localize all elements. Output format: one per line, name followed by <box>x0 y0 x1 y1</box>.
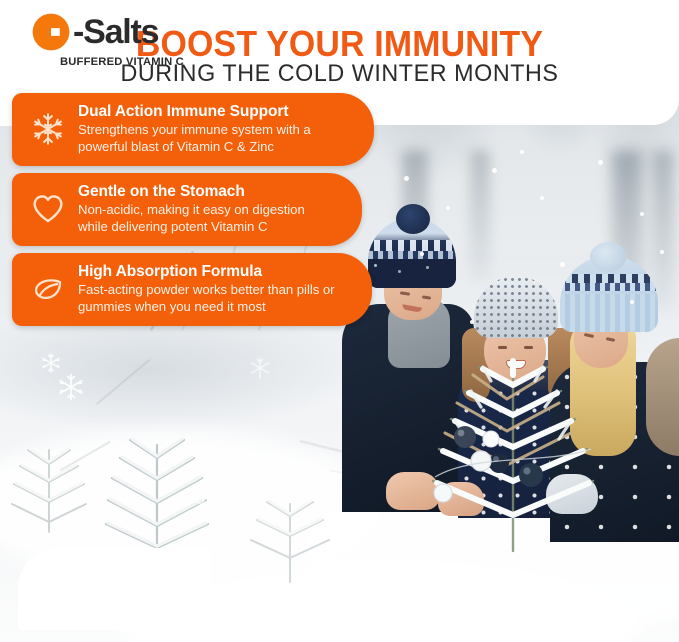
falling-snow <box>470 320 474 324</box>
falling-snow <box>640 212 644 216</box>
father-hat-pompom <box>396 204 430 234</box>
brand-wordmark: -Salts <box>73 15 158 49</box>
ornament-bauble <box>483 431 499 447</box>
leaf-icon <box>20 261 76 317</box>
decorative-snowflake-icon <box>56 372 86 402</box>
brand-logo-plate <box>18 548 211 630</box>
feature-text: Gentle on the Stomach Non-acidic, making… <box>76 183 338 236</box>
ornament-bauble <box>471 451 491 471</box>
feature-text: Dual Action Immune Support Strengthens y… <box>76 103 350 156</box>
ornament-bauble <box>489 453 509 473</box>
feature-description: Strengthens your immune system with a po… <box>78 122 350 155</box>
decorative-snowflake-icon <box>190 492 216 518</box>
falling-snow <box>660 250 664 254</box>
ornament-bauble <box>454 426 476 448</box>
falling-snow <box>630 300 634 304</box>
feature-title: Dual Action Immune Support <box>78 103 350 121</box>
falling-snow <box>520 150 524 154</box>
feature-description: Non-acidic, making it easy on digestion … <box>78 202 338 235</box>
feature-item-high-absorption[interactable]: High Absorption Formula Fast-acting powd… <box>12 253 372 326</box>
falling-snow <box>560 262 565 267</box>
mother-hat-pompom <box>590 242 626 272</box>
falling-snow <box>404 176 409 181</box>
letter-c-mark-icon <box>30 11 72 53</box>
feature-description: Fast-acting powder works better than pil… <box>78 282 348 315</box>
feature-item-gentle-stomach[interactable]: Gentle on the Stomach Non-acidic, making… <box>12 173 362 246</box>
decorative-snowflake-icon <box>248 356 272 380</box>
feature-title: Gentle on the Stomach <box>78 183 338 201</box>
daughter-hat <box>474 276 558 338</box>
feature-title: High Absorption Formula <box>78 263 348 281</box>
product-infographic: BOOST YOUR IMMUNITY DURING THE COLD WINT… <box>0 0 679 642</box>
brand-tagline: BUFFERED VITAMIN C <box>60 56 184 68</box>
falling-snow <box>540 196 544 200</box>
brand-logo: -Salts <box>30 11 158 53</box>
heart-icon <box>20 181 76 237</box>
snowflake-icon <box>20 101 76 157</box>
feature-list: Dual Action Immune Support Strengthens y… <box>12 93 382 333</box>
falling-snow <box>446 206 450 210</box>
falling-snow <box>598 160 603 165</box>
falling-snow <box>492 168 497 173</box>
feature-text: High Absorption Formula Fast-acting powd… <box>76 263 348 316</box>
feature-item-dual-action[interactable]: Dual Action Immune Support Strengthens y… <box>12 93 374 166</box>
decorative-snowflake-icon <box>40 352 62 374</box>
mother-fur-hood <box>646 338 679 456</box>
small-pine-tree <box>0 420 104 540</box>
ornament-bauble <box>519 463 543 487</box>
decorated-pine-tree <box>395 345 625 555</box>
ornament-bauble <box>434 484 452 502</box>
falling-snow <box>420 252 424 256</box>
